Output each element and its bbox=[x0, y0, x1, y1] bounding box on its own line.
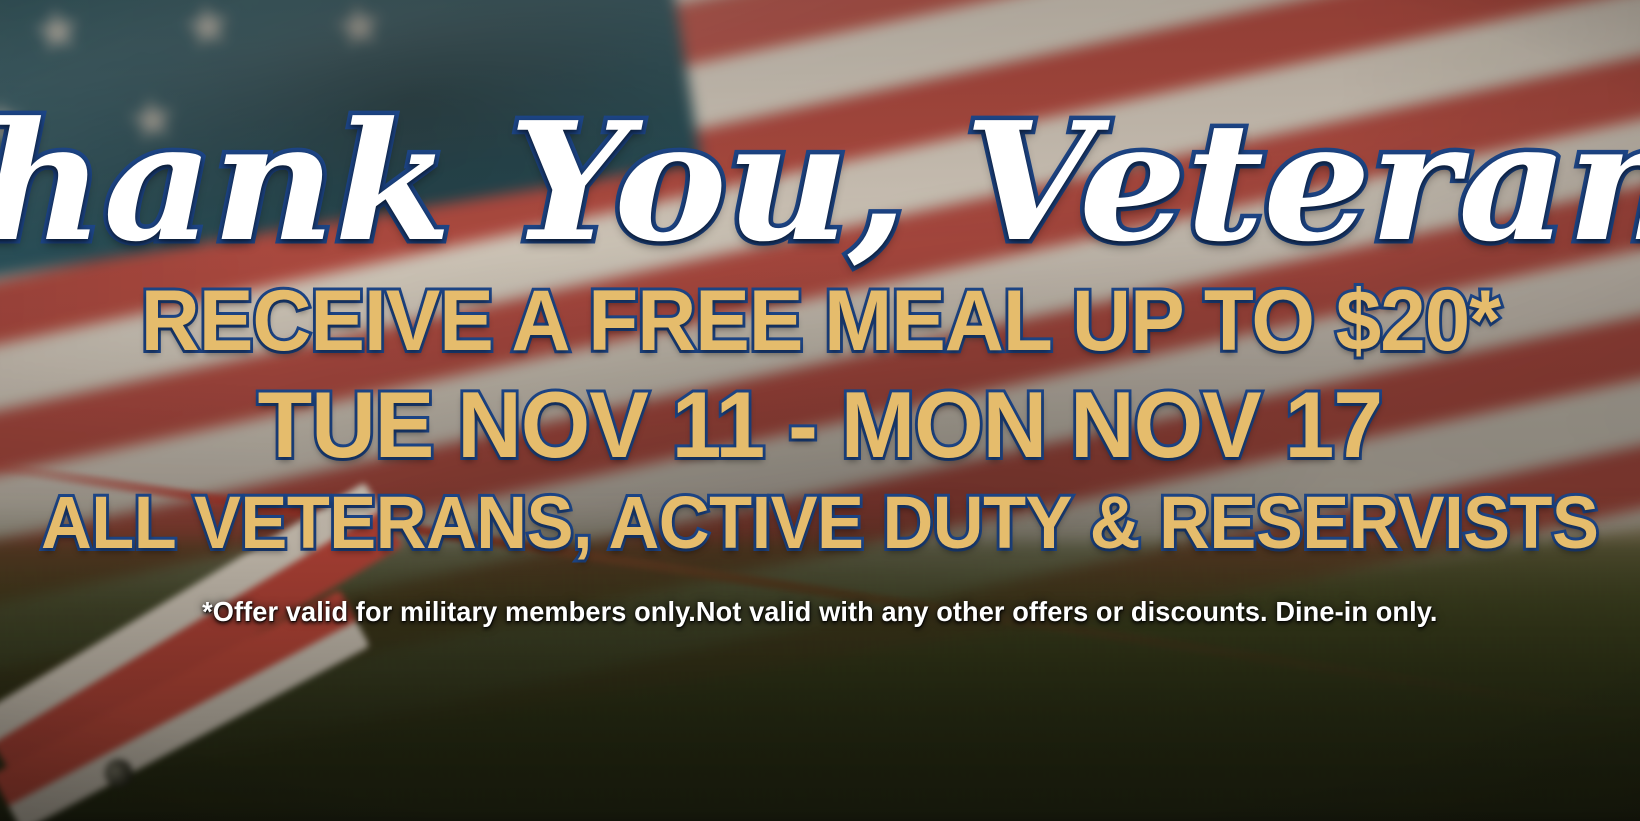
offer-line: RECEIVE A FREE MEAL UP TO $20* bbox=[140, 278, 1499, 364]
veterans-day-promo-banner: Thank You, Veterans RECEIVE A FREE MEAL … bbox=[0, 0, 1640, 821]
date-range-line: TUE NOV 11 - MON NOV 17 bbox=[258, 378, 1382, 472]
banner-content: Thank You, Veterans RECEIVE A FREE MEAL … bbox=[0, 0, 1640, 821]
banner-headline: Thank You, Veterans bbox=[0, 108, 1640, 258]
eligibility-line: ALL VETERANS, ACTIVE DUTY & RESERVISTS bbox=[41, 486, 1598, 560]
disclaimer-text: *Offer valid for military members only.N… bbox=[202, 596, 1437, 628]
